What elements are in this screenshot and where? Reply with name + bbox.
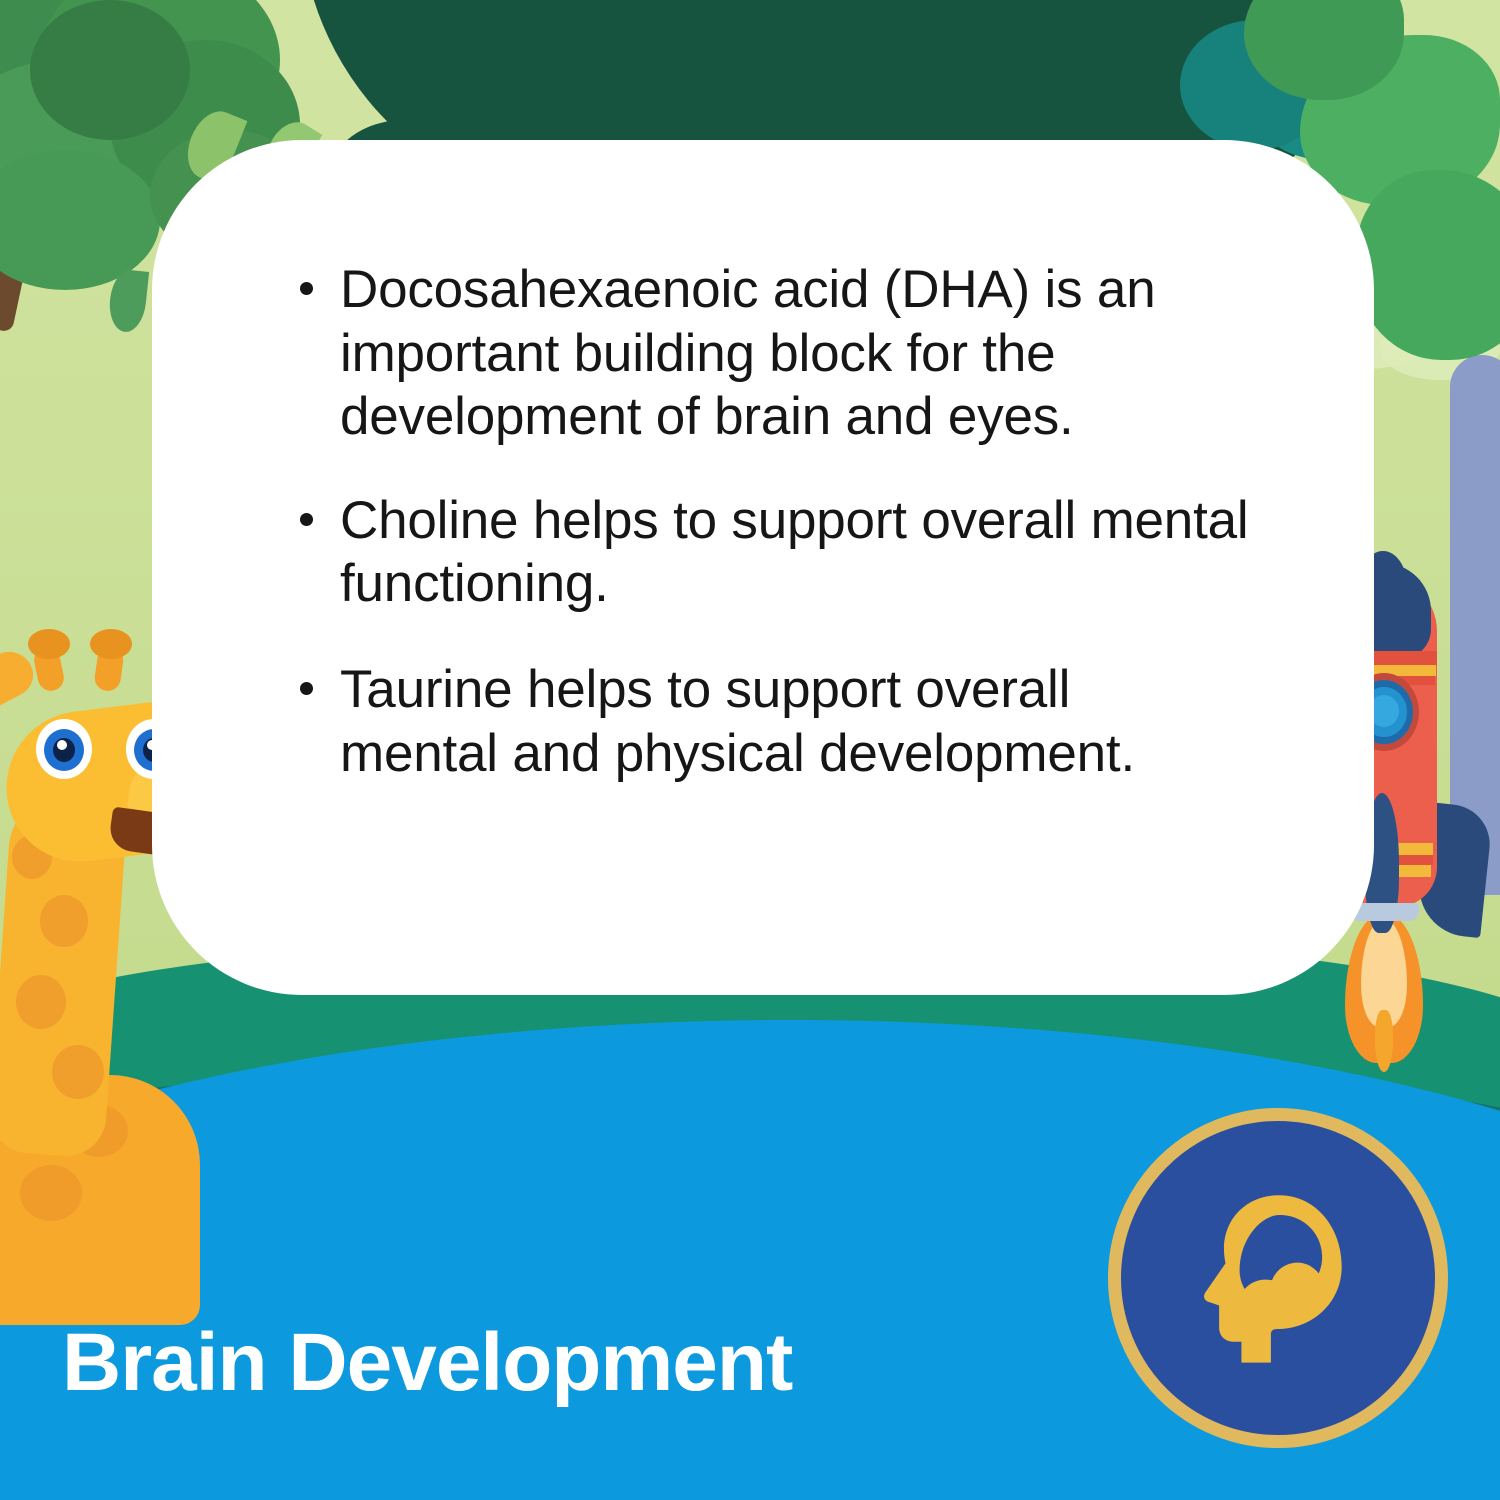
page-title: Brain Development bbox=[62, 1322, 792, 1404]
bullet-list: Docosahexaenoic acid (DHA) is an importa… bbox=[292, 258, 1302, 785]
list-item: Docosahexaenoic acid (DHA) is an importa… bbox=[292, 258, 1270, 449]
slide-canvas: Docosahexaenoic acid (DHA) is an importa… bbox=[0, 0, 1500, 1500]
list-item: Choline helps to support overall mental … bbox=[292, 489, 1350, 616]
bullet-text: Docosahexaenoic acid (DHA) is an importa… bbox=[340, 260, 1156, 446]
list-item: Taurine helps to support overall mental … bbox=[292, 658, 1240, 785]
bullet-text: Taurine helps to support overall mental … bbox=[340, 660, 1135, 783]
bullet-dot-icon bbox=[300, 513, 313, 526]
brain-head-icon bbox=[1163, 1163, 1393, 1393]
bullet-text: Choline helps to support overall mental … bbox=[340, 491, 1248, 614]
bullet-dot-icon bbox=[300, 282, 313, 295]
content-card: Docosahexaenoic acid (DHA) is an importa… bbox=[152, 140, 1374, 995]
brain-badge bbox=[1108, 1108, 1448, 1448]
bullet-dot-icon bbox=[300, 682, 313, 695]
